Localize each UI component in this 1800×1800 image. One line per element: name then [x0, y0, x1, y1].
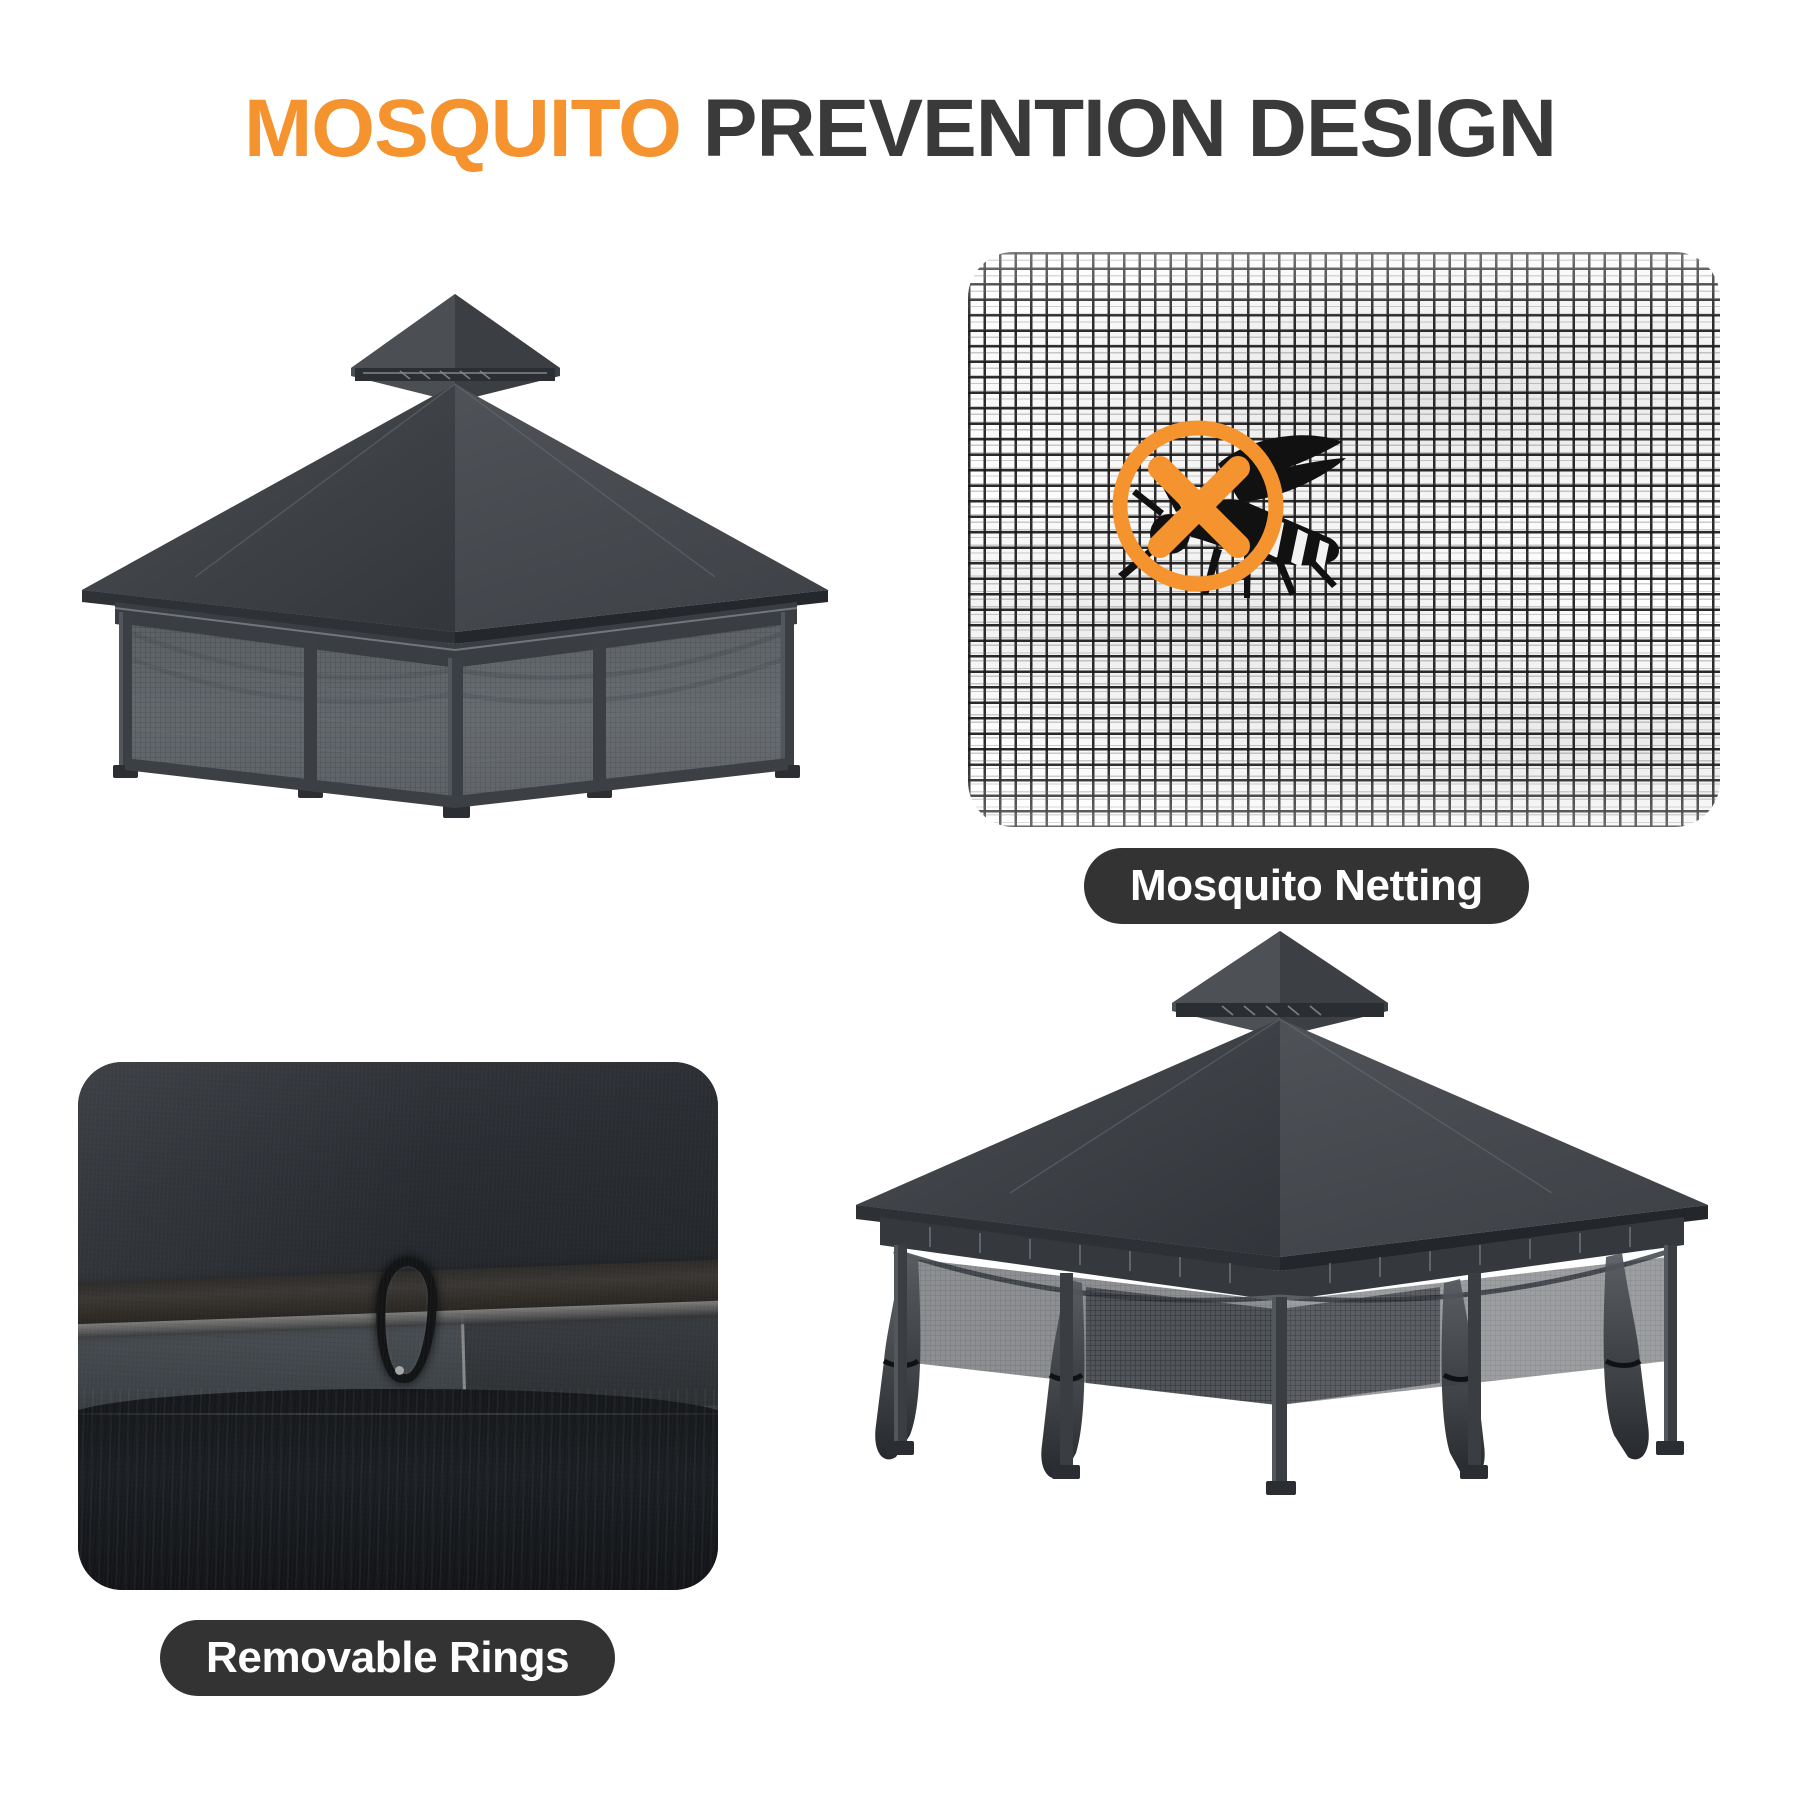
- photo-grain: [78, 1062, 718, 1590]
- gazebo-curtains-image: [810, 905, 1730, 1495]
- label-removable-rings: Removable Rings: [160, 1620, 615, 1696]
- gazebo-netted-image: [55, 272, 855, 832]
- label-mosquito-netting-text: Mosquito Netting: [1130, 861, 1483, 911]
- infographic-canvas: MOSQUITO PREVENTION DESIGN: [0, 0, 1800, 1800]
- page-title-accent: MOSQUITO: [244, 83, 681, 174]
- page-title-rest: PREVENTION DESIGN: [681, 83, 1556, 174]
- removable-rings-photo: [78, 1062, 718, 1590]
- no-mosquito-icon: [1098, 398, 1366, 598]
- label-removable-rings-text: Removable Rings: [206, 1633, 569, 1683]
- page-title: MOSQUITO PREVENTION DESIGN: [0, 88, 1800, 170]
